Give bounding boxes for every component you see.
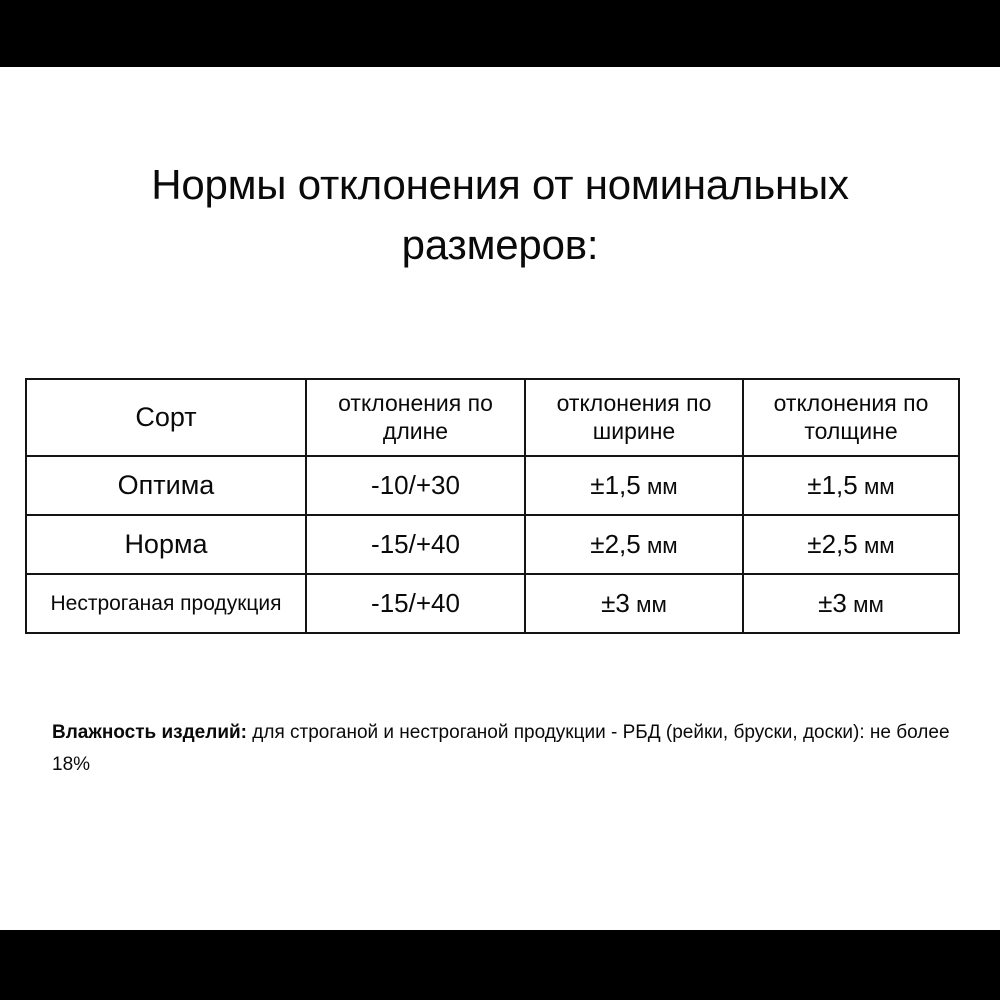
cell-width-deviation: ±2,5 мм — [525, 515, 743, 574]
cell-grade: Оптима — [26, 456, 306, 515]
table-header-row: Сорт отклонения по длине отклонения по ш… — [26, 379, 959, 456]
cell-thickness-unit: мм — [853, 592, 884, 617]
cell-thickness-value: ±3 — [818, 588, 847, 618]
header-cell-width: отклонения по ширине — [525, 379, 743, 456]
cell-width-unit: мм — [636, 592, 667, 617]
cell-thickness-unit: мм — [864, 474, 895, 499]
header-cell-grade: Сорт — [26, 379, 306, 456]
cell-width-unit: мм — [647, 533, 678, 558]
letterbox-bar-top — [0, 0, 1000, 67]
moisture-note-label: Влажность изделий: — [52, 722, 247, 743]
page-title: Нормы отклонения от номинальных размеров… — [60, 155, 940, 274]
cell-thickness-value: ±1,5 — [807, 470, 857, 500]
cell-thickness-deviation: ±3 мм — [743, 574, 959, 633]
cell-width-deviation: ±1,5 мм — [525, 456, 743, 515]
cell-thickness-value: ±2,5 — [807, 529, 857, 559]
cell-thickness-deviation: ±1,5 мм — [743, 456, 959, 515]
cell-grade: Норма — [26, 515, 306, 574]
slide-frame: Нормы отклонения от номинальных размеров… — [0, 0, 1000, 1000]
cell-width-unit: мм — [647, 474, 678, 499]
table-row: Норма -15/+40 ±2,5 мм ±2,5 мм — [26, 515, 959, 574]
cell-width-value: ±3 — [601, 588, 630, 618]
cell-width-value: ±2,5 — [590, 529, 640, 559]
cell-grade: Нестроганая продукция — [26, 574, 306, 633]
letterbox-bar-bottom — [0, 930, 1000, 1000]
cell-length-deviation: -15/+40 — [306, 515, 525, 574]
cell-width-value: ±1,5 — [590, 470, 640, 500]
header-cell-thickness: отклонения по толщине — [743, 379, 959, 456]
cell-thickness-deviation: ±2,5 мм — [743, 515, 959, 574]
slide-canvas: Нормы отклонения от номинальных размеров… — [0, 67, 1000, 930]
table-row: Нестроганая продукция -15/+40 ±3 мм ±3 м… — [26, 574, 959, 633]
moisture-note: Влажность изделий: для строганой и нестр… — [52, 717, 952, 782]
deviation-norms-table: Сорт отклонения по длине отклонения по ш… — [25, 378, 960, 634]
cell-thickness-unit: мм — [864, 533, 895, 558]
header-cell-length: отклонения по длине — [306, 379, 525, 456]
table-row: Оптима -10/+30 ±1,5 мм ±1,5 мм — [26, 456, 959, 515]
cell-width-deviation: ±3 мм — [525, 574, 743, 633]
cell-length-deviation: -15/+40 — [306, 574, 525, 633]
cell-length-deviation: -10/+30 — [306, 456, 525, 515]
